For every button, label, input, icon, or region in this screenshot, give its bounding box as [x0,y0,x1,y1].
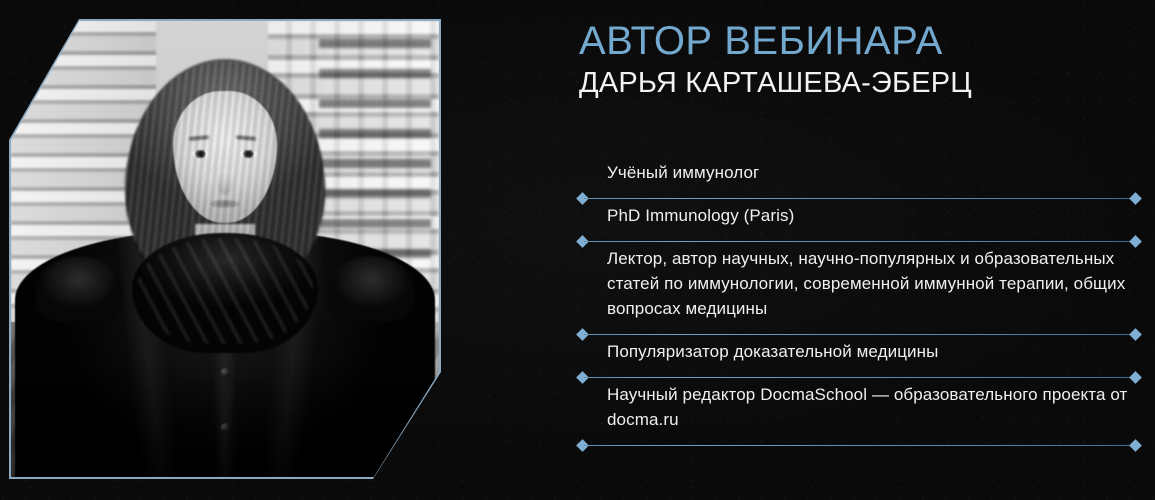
photo-windows-right [319,39,430,258]
list-item: Научный редактор DocmaSchool — образоват… [578,382,1140,450]
photo-coat-button-lower [221,423,230,432]
author-photo [11,21,440,478]
content-panel: АВТОР ВЕБИНАРА ДАРЬЯ КАРТАШЕВА-ЭБЕРЦ Учё… [578,0,1140,500]
list-item: Лектор, автор научных, научно-популярных… [578,246,1140,339]
page-title: АВТОР ВЕБИНАРА [579,18,943,64]
diamond-icon-right [1129,439,1142,452]
credential-text: Учёный иммунолог [578,160,1140,194]
credentials-list: Учёный иммунологPhD Immunology (Paris)Ле… [578,160,1140,450]
credential-text: PhD Immunology (Paris) [578,203,1140,237]
photo-shoulder-right [328,256,414,322]
separator-line [584,334,1134,335]
credential-text: Популяризатор доказательной медицины [578,339,1140,373]
list-item: Популяризатор доказательной медицины [578,339,1140,382]
list-item: PhD Immunology (Paris) [578,203,1140,246]
credential-text: Научный редактор DocmaSchool — образоват… [578,382,1140,441]
separator [578,441,1140,450]
separator-line [584,198,1134,199]
webinar-author-slide: АВТОР ВЕБИНАРА ДАРЬЯ КАРТАШЕВА-ЭБЕРЦ Учё… [0,0,1155,500]
separator [578,373,1140,382]
photo-scarf-highlight [137,238,313,344]
separator [578,330,1140,339]
photo-shoulder-left [36,256,122,322]
photo-coat-button-upper [221,368,230,377]
separator [578,194,1140,203]
separator [578,237,1140,246]
separator-line [584,241,1134,242]
author-name: ДАРЬЯ КАРТАШЕВА-ЭБЕРЦ [579,66,972,100]
author-photo-frame [9,19,441,479]
credential-text: Лектор, автор научных, научно-популярных… [578,246,1140,330]
separator-line [584,377,1134,378]
separator-line [584,445,1134,446]
list-item: Учёный иммунолог [578,160,1140,203]
